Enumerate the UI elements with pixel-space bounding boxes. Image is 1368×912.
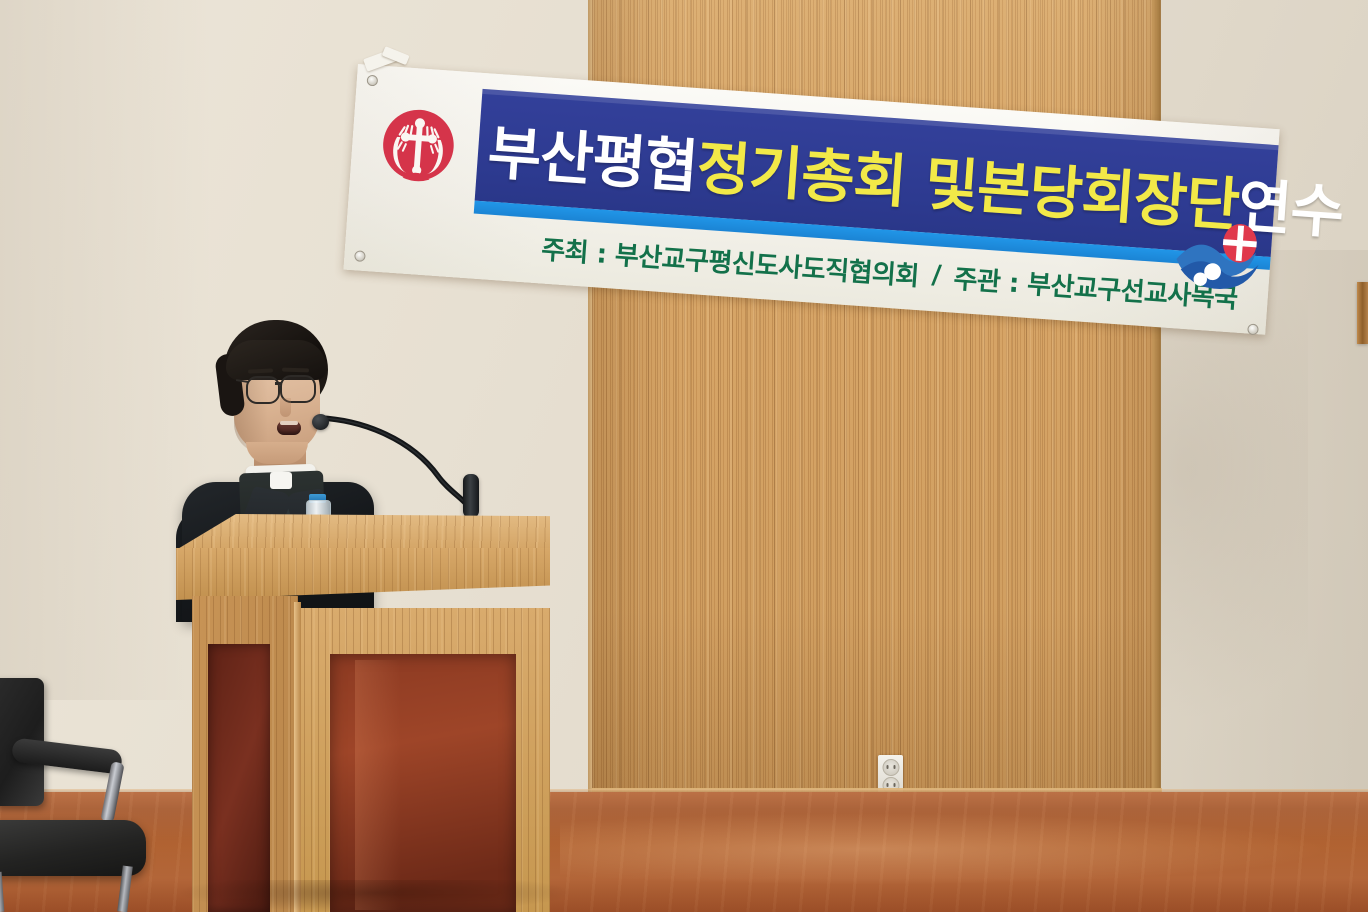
praying-hands-cross-icon [373, 104, 463, 194]
speaker-nose [280, 398, 291, 417]
eyeglasses-lens-left [246, 376, 280, 404]
speaker-hair-fringe [226, 340, 326, 380]
outlet-socket-top [882, 759, 899, 776]
roman-collar-tab [270, 472, 292, 489]
podium-top-surface [176, 514, 550, 550]
podium-top-grain [176, 514, 550, 550]
microphone-gooseneck [316, 414, 472, 504]
microphone-base [463, 474, 479, 518]
photo-scene: 부산평협 정기총회 및 본당회장단 연수 주최 : 부산교구평신도사도직협의회 … [0, 0, 1368, 912]
eyeglasses-bridge [275, 382, 282, 385]
podium-recessed-panel-side [208, 644, 270, 912]
banner-title-white: 부산평협 [485, 106, 700, 205]
podium-floor-shadow [180, 880, 570, 912]
blue-wave-cross-icon [1170, 210, 1270, 300]
podium-corner-edge [294, 602, 301, 912]
outlet-hole [893, 783, 895, 787]
banner-subtitle-separator: / [918, 259, 955, 291]
outlet-hole [886, 765, 888, 769]
floor-highlight [560, 814, 1320, 884]
outlet-hole [893, 765, 895, 769]
banner-title-yellow-1: 정기총회 및 [694, 120, 980, 224]
podium-panel-sheen [355, 660, 401, 910]
speaker-teeth [280, 421, 298, 425]
outlet-hole [886, 783, 888, 787]
right-wall-trim [1357, 282, 1368, 344]
microphone-head [312, 414, 329, 430]
